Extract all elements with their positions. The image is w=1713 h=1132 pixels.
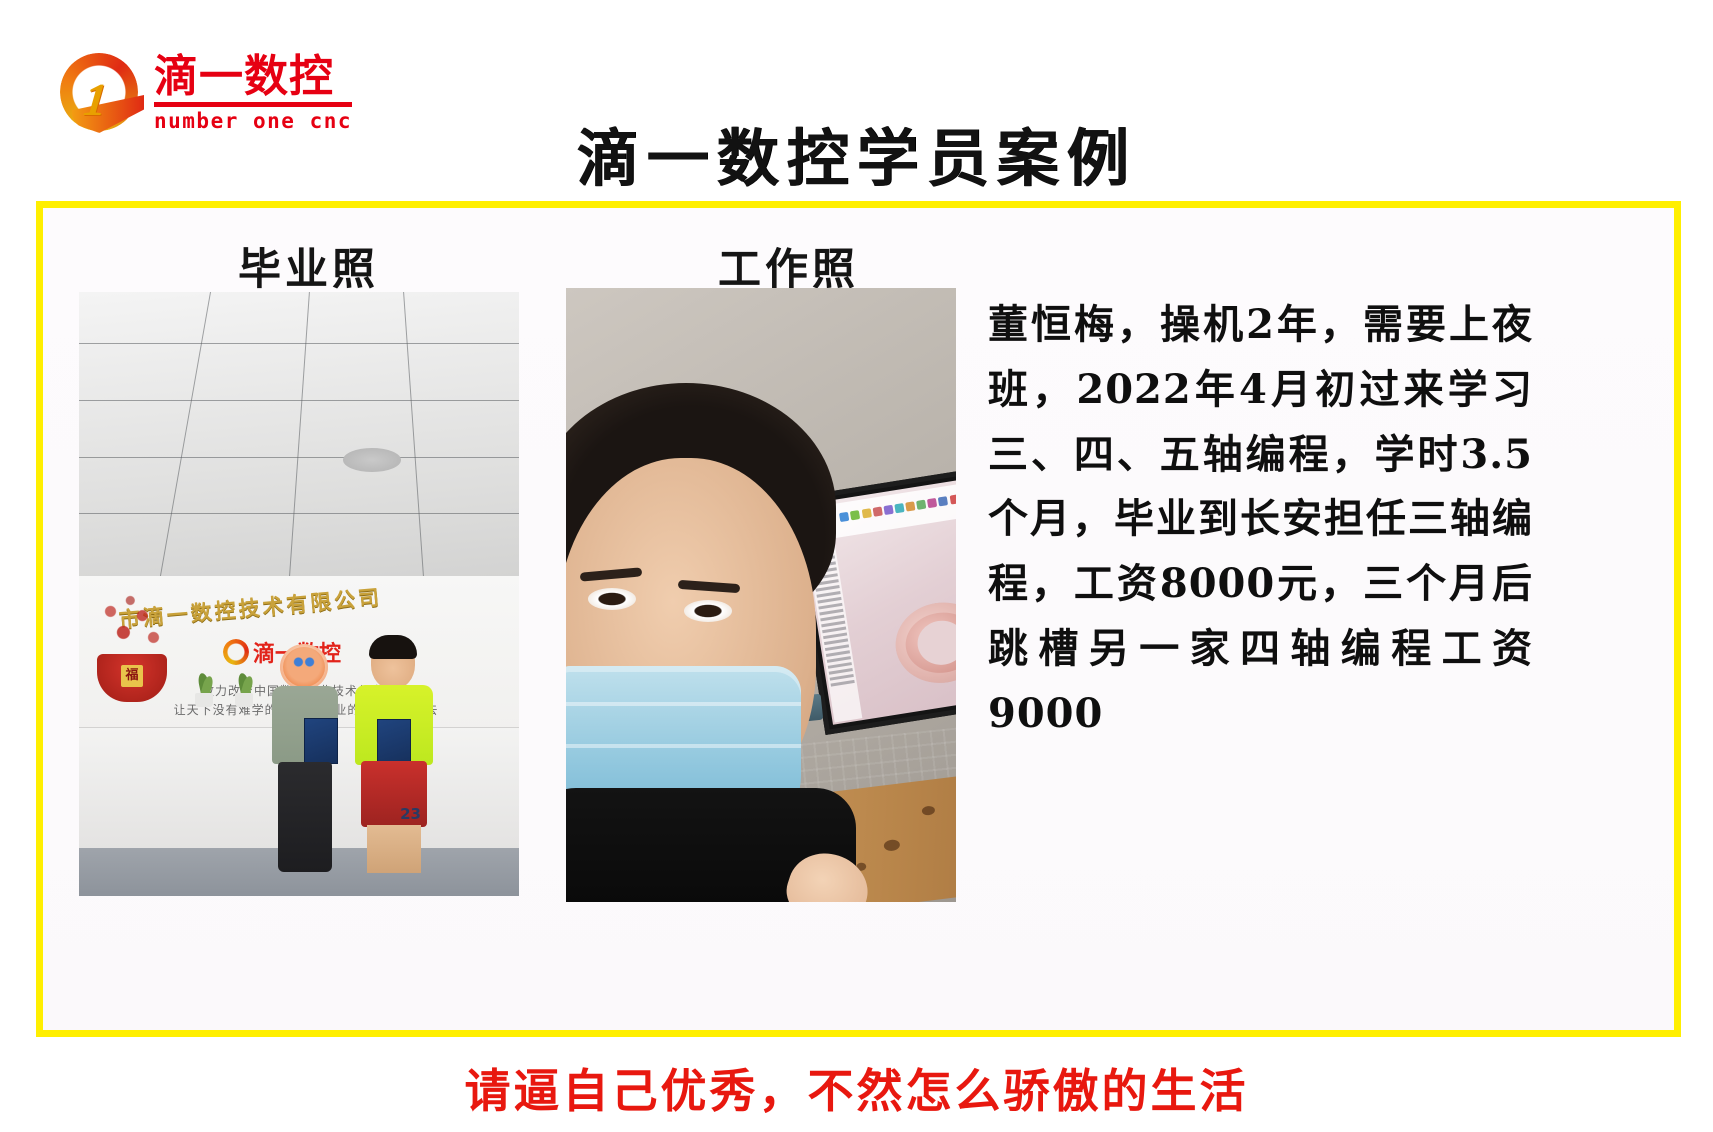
graduation-photo: 市滴一数控技术有限公司 滴一数控 致力改变中国数控行业技术保守现象 让天下没有难… [79, 292, 519, 896]
work-photo [566, 288, 956, 902]
student-case-text: 董恒梅，操机2年，需要上夜班，2022年4月初过来学习三、四、五轴编程，学时3.… [988, 293, 1533, 747]
footer-slogan: 请逼自己优秀，不然怎么骄傲的生活 [0, 1055, 1713, 1121]
logo-chinese-name: 滴一数控 [154, 55, 352, 100]
graduate-person-right [351, 637, 437, 881]
person-eye-right [684, 600, 732, 622]
decorative-branches [89, 582, 175, 666]
vase-fu-character: 福 [121, 665, 143, 687]
person-eye-left [588, 588, 636, 610]
ceiling-light-icon [343, 448, 401, 472]
potted-plant-right [231, 673, 257, 707]
logo-divider [154, 102, 352, 107]
person-hair [369, 635, 417, 659]
wall-logo-ring-icon [223, 639, 249, 665]
certificate-left [304, 718, 338, 764]
office-ceiling [79, 292, 519, 576]
masked-face-icon [280, 644, 328, 690]
page-title: 滴一数控学员案例 [0, 108, 1713, 198]
person-shorts [361, 761, 427, 827]
person-legs [367, 825, 421, 873]
potted-plant-left [191, 673, 217, 707]
person-trousers [278, 762, 332, 872]
graduate-person-left [264, 644, 346, 880]
cad-ring-part [890, 596, 956, 689]
certificate-right [377, 719, 411, 765]
cad-toolbar [829, 483, 956, 538]
graduation-photo-label: 毕业照 [238, 235, 379, 297]
